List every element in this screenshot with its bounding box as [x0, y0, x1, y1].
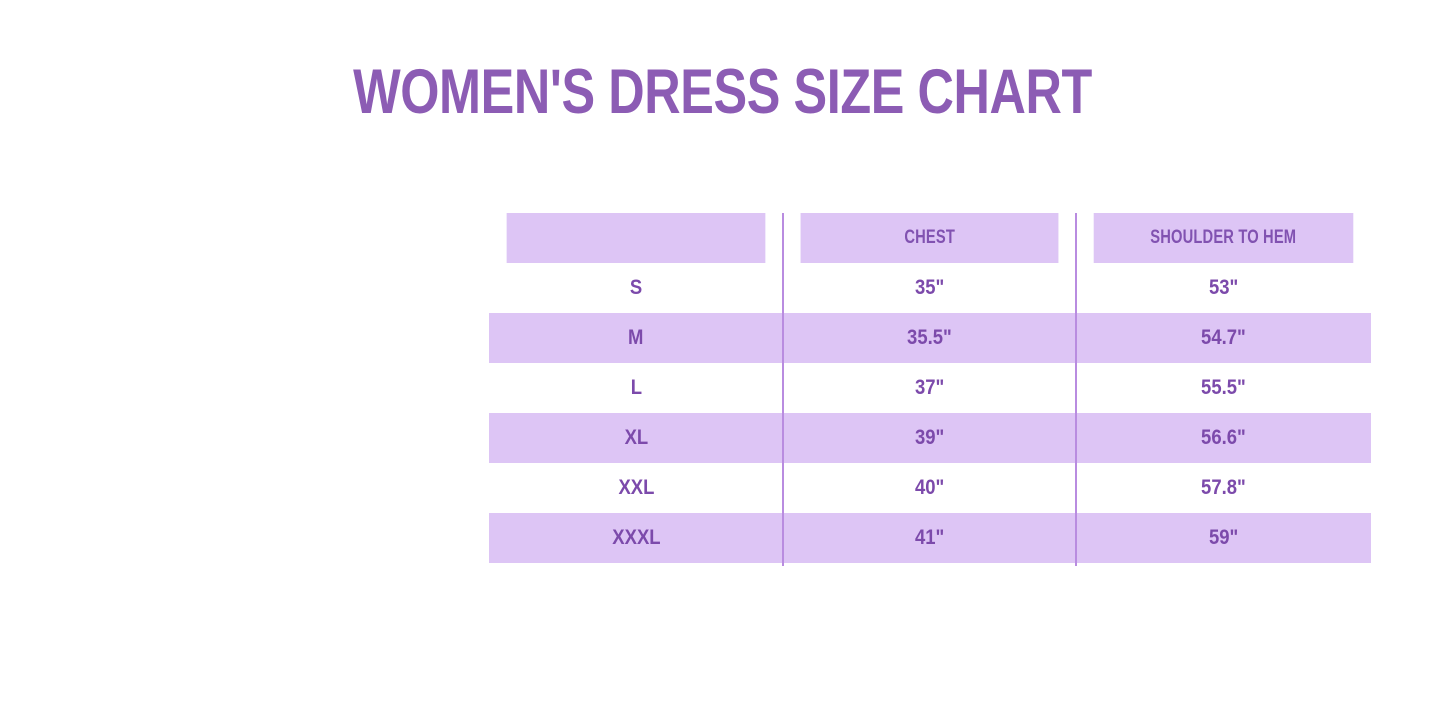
cell-size: XL: [489, 413, 783, 463]
cell-chest: 40": [783, 463, 1076, 513]
cell-shoulder-to-hem: 53": [1076, 263, 1371, 313]
cell-shoulder-to-hem: 56.6": [1076, 413, 1371, 463]
size-chart-table: CHEST SHOULDER TO HEM S 35" 53" M 35.5" …: [489, 213, 1371, 563]
column-header-chest: CHEST: [801, 213, 1059, 263]
size-label: S: [630, 276, 642, 300]
size-chart-page: WOMEN'S DRESS SIZE CHART CHEST SHOULDER …: [0, 0, 1445, 723]
column-header-size: [507, 213, 766, 263]
chest-value: 35.5": [907, 326, 952, 350]
cell-size: XXL: [489, 463, 783, 513]
chest-value: 41": [915, 526, 944, 550]
size-label: XXXL: [612, 526, 660, 550]
shoulder-to-hem-value: 54.7": [1201, 326, 1246, 350]
shoulder-to-hem-value: 53": [1209, 276, 1238, 300]
cell-chest: 37": [783, 363, 1076, 413]
table-row: L 37" 55.5": [489, 363, 1371, 413]
chest-value: 39": [915, 426, 944, 450]
shoulder-to-hem-value: 59": [1209, 526, 1238, 550]
page-title: WOMEN'S DRESS SIZE CHART: [145, 56, 1301, 128]
header-row: CHEST SHOULDER TO HEM: [489, 213, 1371, 263]
column-header-chest-label: CHEST: [904, 227, 955, 249]
cell-chest: 41": [783, 513, 1076, 563]
cell-chest: 35": [783, 263, 1076, 313]
cell-shoulder-to-hem: 57.8": [1076, 463, 1371, 513]
size-label: M: [628, 326, 643, 350]
size-label: XL: [624, 426, 648, 450]
chest-value: 35": [915, 276, 944, 300]
cell-shoulder-to-hem: 54.7": [1076, 313, 1371, 363]
column-header-shoulder-to-hem: SHOULDER TO HEM: [1094, 213, 1354, 263]
table-row: XXL 40" 57.8": [489, 463, 1371, 513]
table-row: XXXL 41" 59": [489, 513, 1371, 563]
table-header: CHEST SHOULDER TO HEM: [489, 213, 1371, 263]
cell-size: M: [489, 313, 783, 363]
table-row: M 35.5" 54.7": [489, 313, 1371, 363]
cell-size: S: [489, 263, 783, 313]
shoulder-to-hem-value: 57.8": [1201, 476, 1246, 500]
table-row: XL 39" 56.6": [489, 413, 1371, 463]
column-header-shoulder-to-hem-label: SHOULDER TO HEM: [1151, 227, 1297, 249]
chest-value: 37": [915, 376, 944, 400]
column-divider-2: [1075, 213, 1077, 566]
chest-value: 40": [915, 476, 944, 500]
cell-size: XXXL: [489, 513, 783, 563]
table-body: S 35" 53" M 35.5" 54.7" L 37" 55.5" XL 3…: [489, 263, 1371, 563]
cell-size: L: [489, 363, 783, 413]
cell-chest: 39": [783, 413, 1076, 463]
cell-chest: 35.5": [783, 313, 1076, 363]
cell-shoulder-to-hem: 59": [1076, 513, 1371, 563]
table-row: S 35" 53": [489, 263, 1371, 313]
column-divider-1: [782, 213, 784, 566]
size-label: L: [630, 376, 641, 400]
shoulder-to-hem-value: 56.6": [1201, 426, 1246, 450]
shoulder-to-hem-value: 55.5": [1201, 376, 1246, 400]
size-label: XXL: [618, 476, 654, 500]
cell-shoulder-to-hem: 55.5": [1076, 363, 1371, 413]
